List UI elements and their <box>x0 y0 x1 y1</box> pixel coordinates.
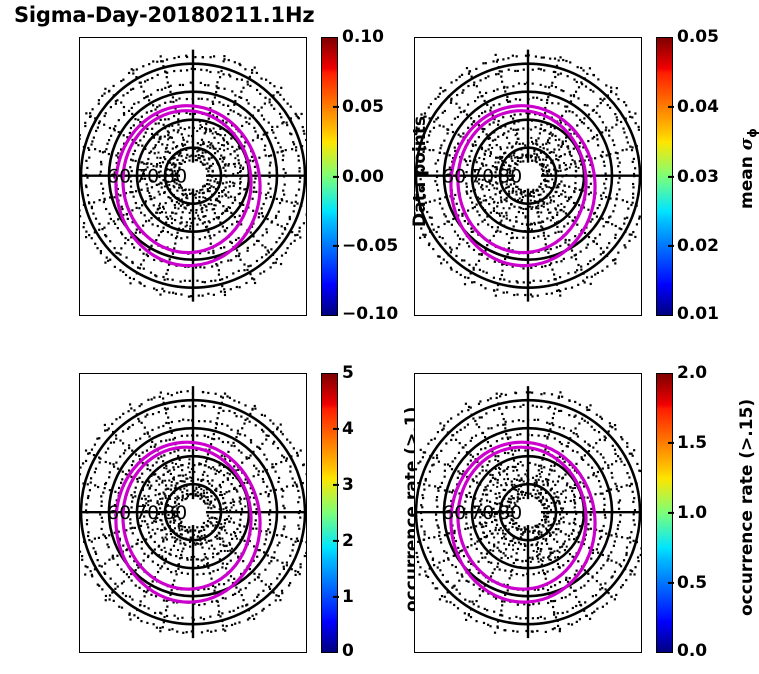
axes-frame-top-right <box>414 37 642 316</box>
colorbar-ticklabel: 0.10 <box>342 27 384 47</box>
colorbar-ticklabel: 0.5 <box>677 573 707 593</box>
colorbar-ticklabel: 2.0 <box>677 363 707 383</box>
axes-frame-bottom-right <box>414 373 642 653</box>
polar-panel-top-left: 607080 <box>79 37 307 316</box>
colorbar-ticklabel: 0.0 <box>677 641 707 661</box>
colorbar-ticklabel: −0.10 <box>342 304 398 324</box>
colorbar-ticklabel: 0.02 <box>677 236 719 256</box>
colorbar-ticklabel: 1.0 <box>677 503 707 523</box>
colorbar-tickmark <box>333 484 339 486</box>
colorbar-ticklabel: 0.00 <box>342 167 384 187</box>
colorbar-tickmark <box>333 245 339 247</box>
colorbar-tickmark <box>668 106 674 108</box>
polar-panel-bottom-right: 607080 <box>414 373 642 653</box>
colorbar-ticklabel: 0.04 <box>677 97 719 117</box>
colorbar-tickmark <box>668 245 674 247</box>
colorbar-label-bottom-right: occurrence rate (>.15) <box>737 399 757 616</box>
colorbar-tickmark <box>668 442 674 444</box>
colorbar-bottom-left <box>321 373 338 653</box>
colorbar-ticklabel: 1 <box>342 587 354 607</box>
polar-panel-top-right: 607080 <box>414 37 642 316</box>
colorbar-label-text: mean σϕ <box>737 129 757 210</box>
colorbar-ticklabel: 0.05 <box>677 27 719 47</box>
colorbar-ticklabel: 0.05 <box>342 97 384 117</box>
colorbar-ticklabel: 0.03 <box>677 167 719 187</box>
colorbar-ticklabel: 1.5 <box>677 433 707 453</box>
colorbar-label-top-right: mean σϕ <box>737 129 759 210</box>
colorbar-ticklabel: 0 <box>342 641 354 661</box>
colorbar-tickmark <box>333 175 339 177</box>
colorbar-tickmark <box>333 428 339 430</box>
colorbar-ticklabel: 5 <box>342 363 354 383</box>
colorbar-tickmark <box>333 106 339 108</box>
colorbar-tickmark <box>668 175 674 177</box>
colorbar-ticklabel: 4 <box>342 419 354 439</box>
figure-canvas: Sigma-Day-20180211.1Hz 607080−0.10−0.050… <box>0 0 759 674</box>
colorbar-ticklabel: −0.05 <box>342 236 398 256</box>
colorbar-gradient <box>322 374 337 652</box>
colorbar-tickmark <box>668 512 674 514</box>
colorbar-ticklabel: 2 <box>342 531 354 551</box>
colorbar-ticklabel: 0.01 <box>677 304 719 324</box>
axes-frame-top-left <box>79 37 307 316</box>
colorbar-tickmark <box>333 540 339 542</box>
axes-frame-bottom-left <box>79 373 307 653</box>
polar-panel-bottom-left: 607080 <box>79 373 307 653</box>
colorbar-ticklabel: 3 <box>342 475 354 495</box>
axis-ylabel-top-right: Data points <box>410 115 430 226</box>
colorbar-tickmark <box>333 596 339 598</box>
page-title: Sigma-Day-20180211.1Hz <box>14 3 314 27</box>
colorbar-tickmark <box>668 582 674 584</box>
